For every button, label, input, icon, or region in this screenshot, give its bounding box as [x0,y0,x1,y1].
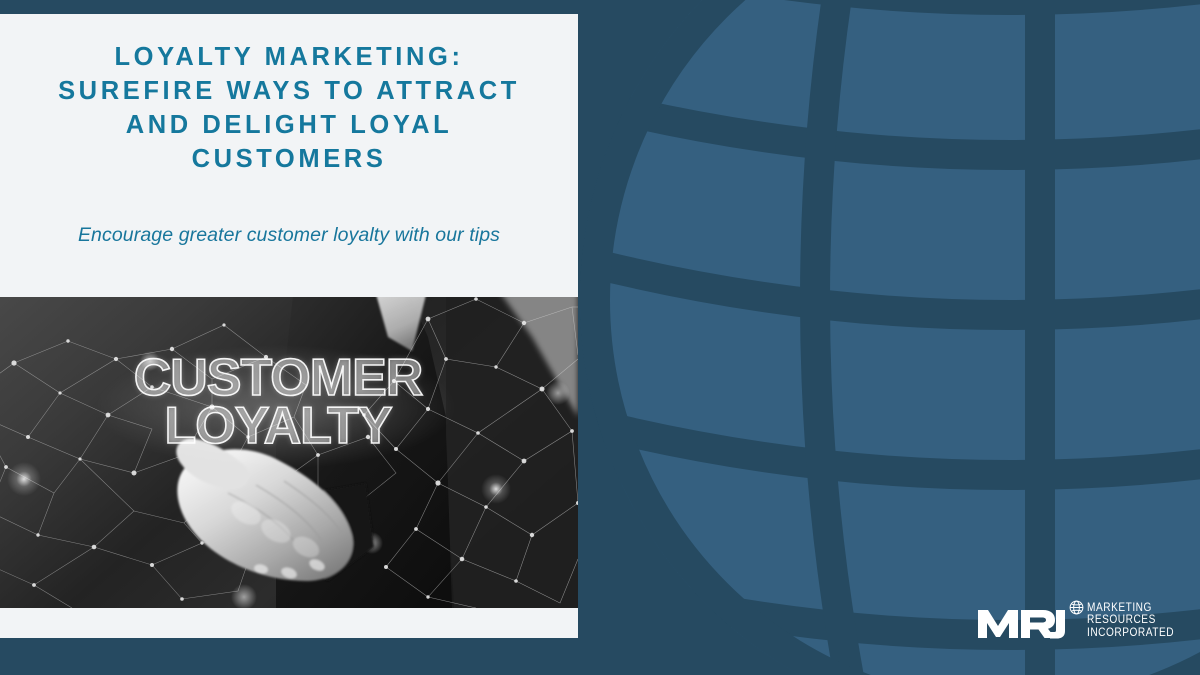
mri-monogram-icon [976,600,1068,640]
globe-icon [1069,600,1084,615]
hero-photo: CUSTOMER LOYALTY CUSTOMER LOYALTY LOYALT… [0,297,578,608]
wordmark-line-incorporated: INCORPORATED [1087,627,1174,640]
page-title: LOYALTY MARKETING: SUREFIRE WAYS TO ATTR… [0,40,578,176]
social-card-canvas: LOYALTY MARKETING: SUREFIRE WAYS TO ATTR… [0,0,1200,675]
page-subtitle: Encourage greater customer loyalty with … [0,222,578,248]
mri-wordmark: MARKETING RESOURCES INCORPORATED [1087,601,1186,640]
card-text-area: LOYALTY MARKETING: SUREFIRE WAYS TO ATTR… [0,14,578,297]
mri-logo: MARKETING RESOURCES INCORPORATED [976,598,1186,642]
content-card: LOYALTY MARKETING: SUREFIRE WAYS TO ATTR… [0,14,578,638]
wordmark-line-resources: RESOURCES [1087,614,1174,627]
wordmark-line-marketing: MARKETING [1087,602,1174,615]
svg-text:LOYALTY: LOYALTY [164,397,391,455]
